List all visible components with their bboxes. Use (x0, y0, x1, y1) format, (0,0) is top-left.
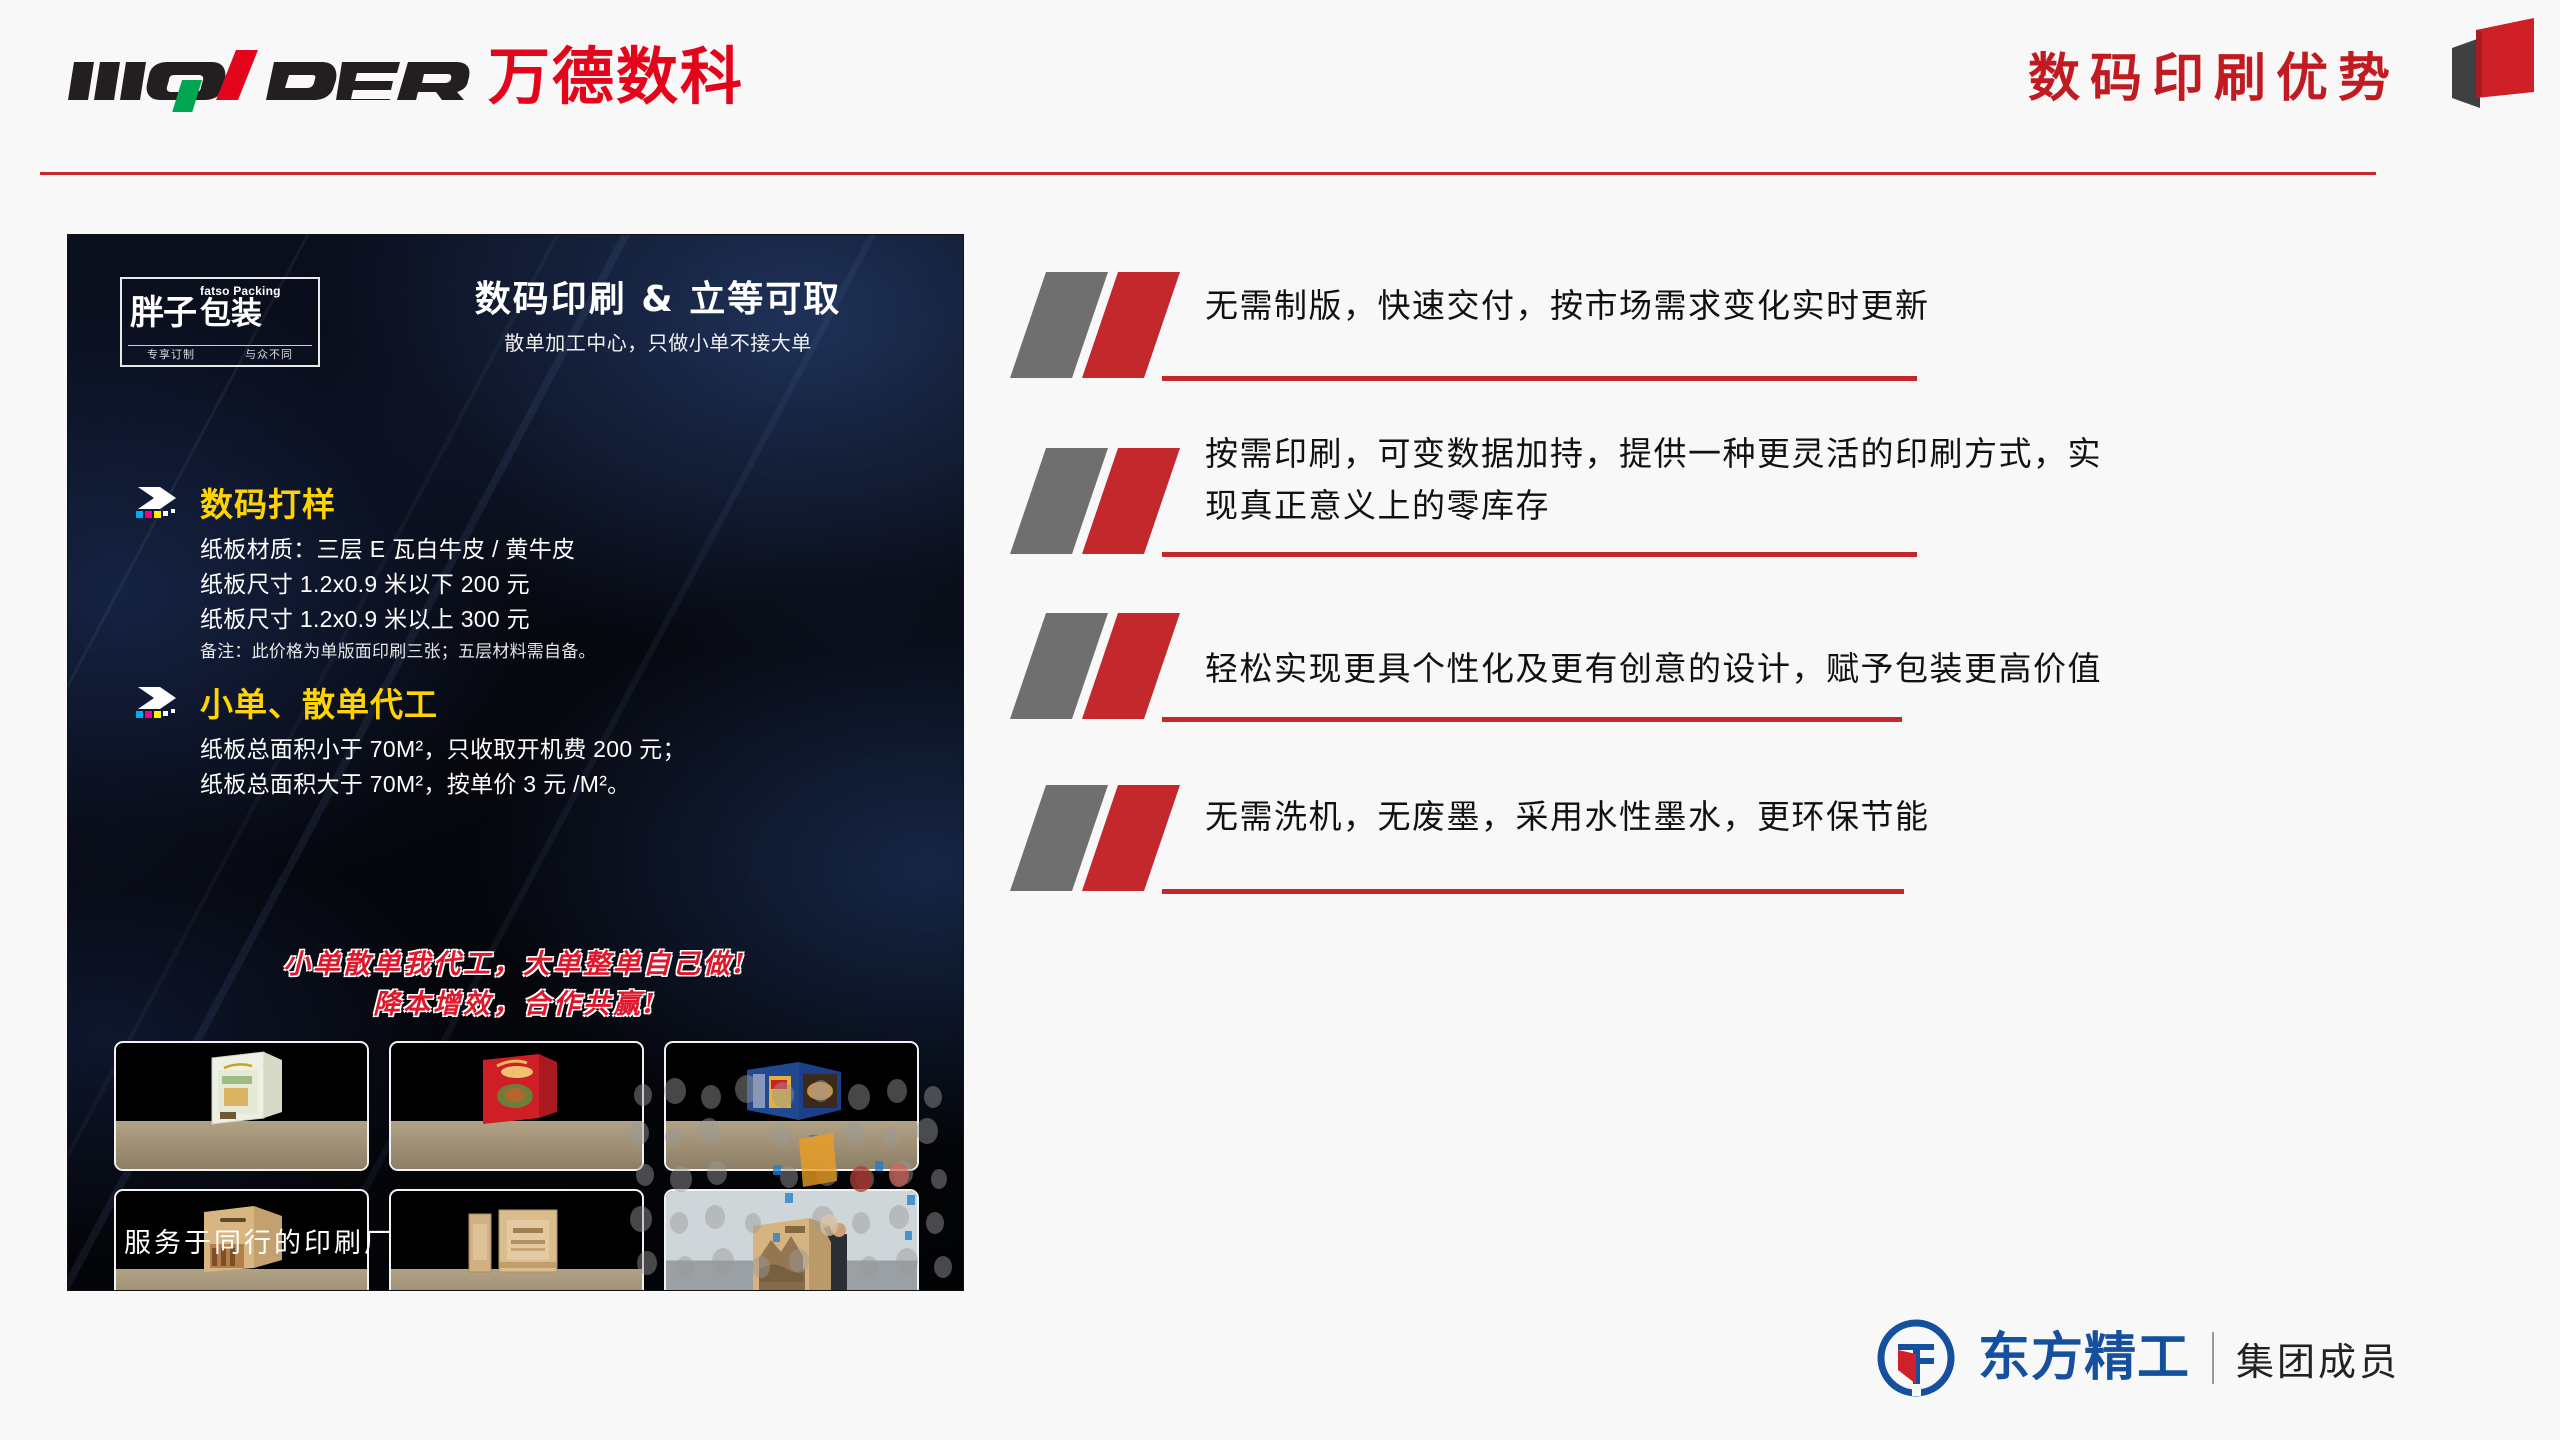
page-title: 数码印刷优势 (2028, 36, 2400, 111)
product-photo-classic-kraft-set (389, 1189, 644, 1290)
arrow-cmyk-icon (134, 485, 186, 519)
brand-name-cn: 万德数科 (488, 42, 744, 112)
poster-footer-text: 服务于同行的印刷厂 (124, 1221, 394, 1260)
advantage-underline (1162, 376, 1917, 381)
section-line: 纸板总面积大于 70M²，按单价 3 元 /M²。 (200, 767, 686, 802)
advantage-underline (1162, 889, 1904, 894)
halftone-dots-decoration (623, 1075, 963, 1290)
product-photo-red-gift-box (389, 1041, 644, 1171)
advantage-item: 轻松实现更具个性化及更有创意的设计，赋予包装更高价值 (1010, 633, 2430, 701)
poster-section-small-orders: 小单、散单代工 纸板总面积小于 70M²，只收取开机费 200 元； 纸板总面积… (134, 678, 686, 802)
wonder-wordmark-icon (60, 40, 480, 112)
fatso-tagline-right: 与众不同 (245, 346, 293, 362)
book-page-icon (2446, 12, 2542, 116)
fatso-tagline-left: 专享订制 (147, 346, 195, 362)
advantage-text: 按需印刷，可变数据加持，提供一种更灵活的印刷方式，实 现真正意义上的零库存 (1205, 418, 2430, 538)
section-line: 纸板总面积小于 70M²，只收取开机费 200 元； (200, 732, 686, 767)
section-line: 纸板材质：三层 E 瓦白牛皮 / 黄牛皮 (200, 532, 596, 567)
section-note: 备注：此价格为单版面印刷三张；五层材料需自备。 (200, 637, 596, 667)
advantage-item: 无需制版，快速交付，按市场需求变化实时更新 (1010, 270, 2430, 338)
fatso-logo-cn-main: 胖子 (130, 296, 196, 330)
product-photo-honey-gift-box (114, 1041, 369, 1171)
poster-slogan: 小单散单我代工，大单整单自己做! 降本增效，合作共赢! (68, 945, 963, 1025)
fatso-packing-logo: 胖子 fatso Packing 包装 专享订制 与众不同 (120, 277, 320, 367)
advantage-line: 轻松实现更具个性化及更有创意的设计，赋予包装更高价值 (1205, 643, 2430, 695)
double-slash-marker-icon (1010, 446, 1185, 556)
dongfang-circle-logo-icon (1876, 1318, 1956, 1398)
poster-headline: 数码印刷 & 立等可取 (398, 279, 918, 321)
slide-root: 万德数科 数码印刷优势 胖子 fatso Packing 包装 专享订制 与 (0, 0, 2560, 1440)
advantage-item: 无需洗机，无废墨，采用水性墨水，更环保节能 (1010, 781, 2430, 849)
advantage-text: 轻松实现更具个性化及更有创意的设计，赋予包装更高价值 (1205, 633, 2430, 701)
advantage-line: 按需印刷，可变数据加持，提供一种更灵活的印刷方式，实 (1205, 428, 2430, 480)
group-member-label: 集团成员 (2236, 1331, 2400, 1386)
fatso-logo-cn-sub: 包装 (200, 298, 262, 330)
section-line: 纸板尺寸 1.2x0.9 米以上 300 元 (200, 602, 596, 637)
group-member-logo: 东方精工 集团成员 (1876, 1318, 2400, 1398)
advantage-underline (1162, 717, 1902, 722)
company-name-cn: 东方精工 (1978, 1330, 2190, 1386)
advantage-text: 无需制版，快速交付，按市场需求变化实时更新 (1205, 270, 2430, 338)
advantage-underline (1162, 552, 1917, 557)
wonder-brand-logo: 万德数科 (60, 42, 744, 112)
double-slash-marker-icon (1010, 611, 1185, 721)
double-slash-marker-icon (1010, 270, 1185, 380)
poster-subheadline: 散单加工中心，只做小单不接大单 (398, 327, 918, 356)
header-divider (40, 172, 2376, 175)
section-title-proofing: 数码打样 (200, 478, 336, 526)
poster-section-proofing: 数码打样 纸板材质：三层 E 瓦白牛皮 / 黄牛皮 纸板尺寸 1.2x0.9 米… (134, 478, 596, 667)
section-title-small-orders: 小单、散单代工 (200, 678, 438, 726)
slogan-line: 降本增效，合作共赢! (68, 985, 963, 1025)
footer-divider (2212, 1332, 2214, 1384)
section-line: 纸板尺寸 1.2x0.9 米以下 200 元 (200, 567, 596, 602)
advantage-text: 无需洗机，无废墨，采用水性墨水，更环保节能 (1205, 781, 2430, 849)
double-slash-marker-icon (1010, 783, 1185, 893)
advantages-list: 无需制版，快速交付，按市场需求变化实时更新 按需印刷，可变数据加持，提供一种更灵… (1010, 270, 2430, 929)
poster-heading-block: 数码印刷 & 立等可取 散单加工中心，只做小单不接大单 (398, 279, 918, 356)
advantage-item: 按需印刷，可变数据加持，提供一种更灵活的印刷方式，实 现真正意义上的零库存 (1010, 418, 2430, 538)
arrow-cmyk-icon (134, 685, 186, 719)
advantage-line: 现真正意义上的零库存 (1205, 480, 2430, 532)
slogan-line: 小单散单我代工，大单整单自己做! (68, 945, 963, 985)
advantage-line: 无需洗机，无废墨，采用水性墨水，更环保节能 (1205, 791, 2430, 843)
slide-header: 万德数科 数码印刷优势 (0, 0, 2560, 175)
promo-poster-image: 胖子 fatso Packing 包装 专享订制 与众不同 数码印刷 & 立等可… (68, 235, 963, 1290)
advantage-line: 无需制版，快速交付，按市场需求变化实时更新 (1205, 280, 2430, 332)
